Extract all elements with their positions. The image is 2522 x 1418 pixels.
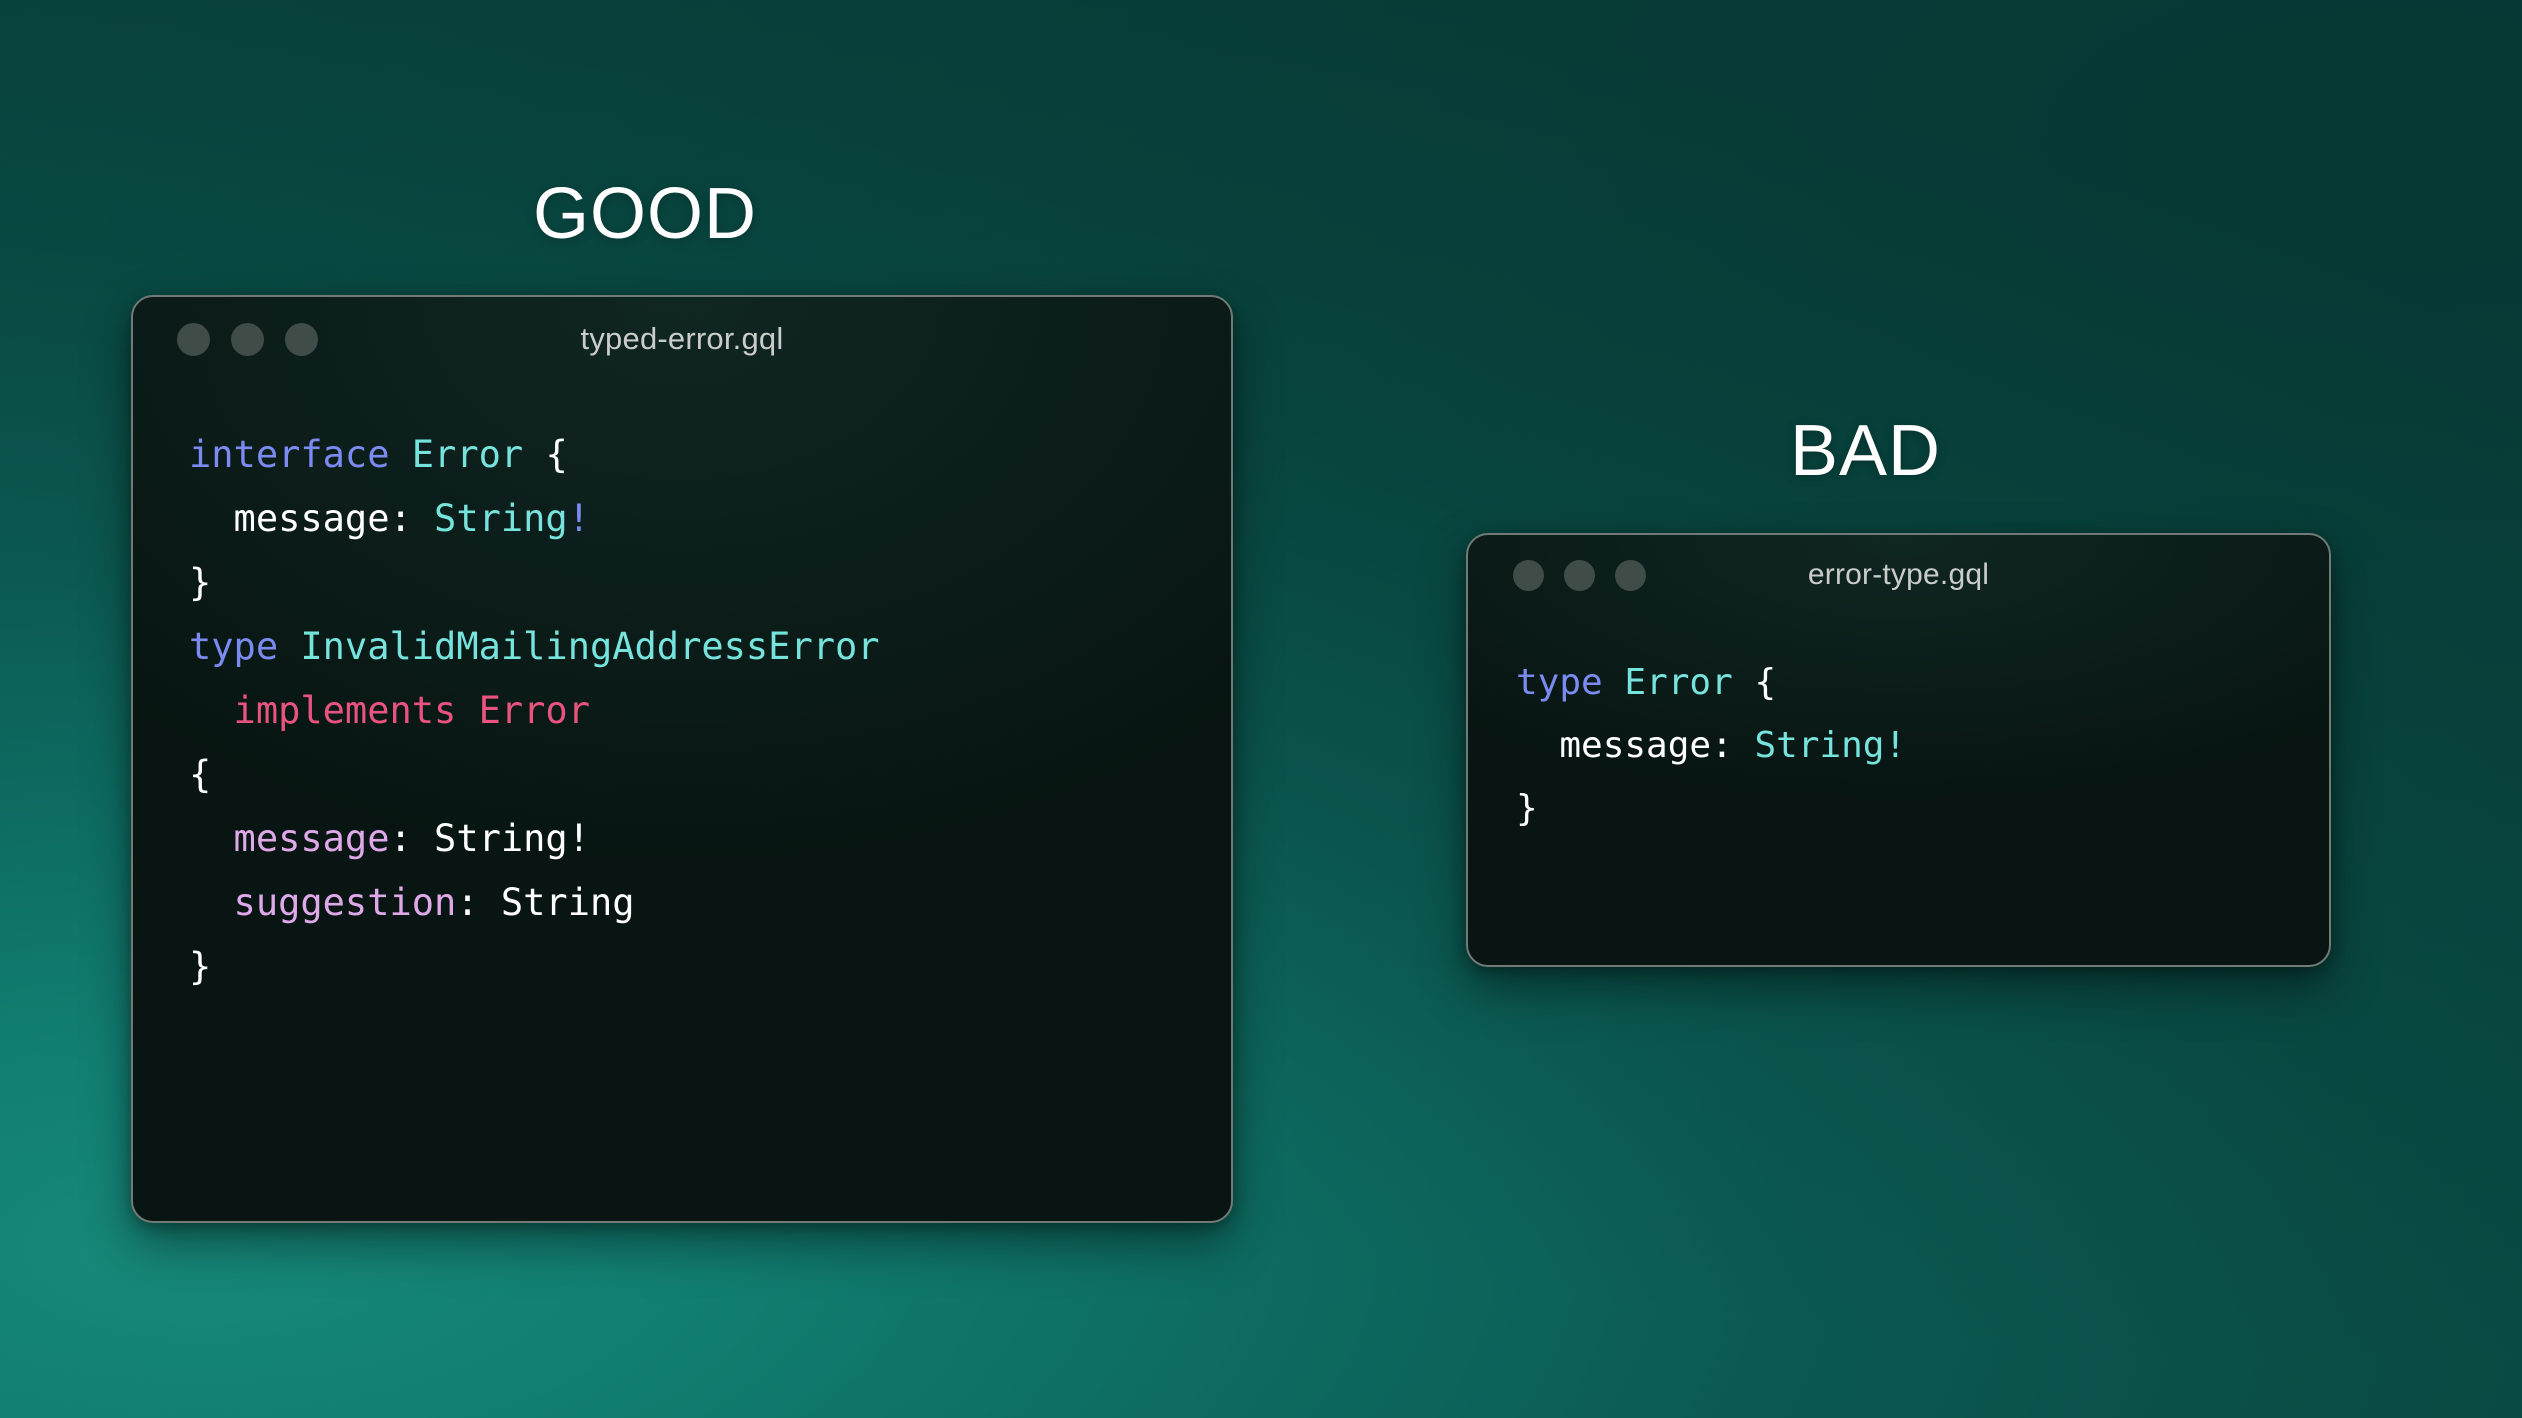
good-code-window: typed-error.gql interface Error { messag… [131, 295, 1233, 1223]
code-token: String [1754, 725, 1884, 766]
code-token: String! [434, 817, 590, 860]
code-line: message: String! [189, 807, 1231, 871]
code-token: ! [1884, 725, 1906, 766]
code-token [389, 433, 411, 476]
code-token [1603, 662, 1625, 703]
code-token: { [1754, 662, 1776, 703]
code-token: InvalidMailingAddressError [300, 625, 879, 668]
code-token: Error [412, 433, 523, 476]
code-token: String [434, 497, 568, 540]
code-line: { [189, 743, 1231, 807]
code-token: message [189, 817, 389, 860]
code-token: String [501, 881, 635, 924]
code-token: : [389, 497, 434, 540]
good-window-titlebar: typed-error.gql [133, 297, 1231, 381]
code-token: implements Error [189, 689, 590, 732]
code-token: } [189, 561, 211, 604]
code-line: implements Error [189, 679, 1231, 743]
close-dot-icon[interactable] [177, 323, 210, 356]
maximize-dot-icon[interactable] [1615, 560, 1646, 591]
bad-code-window: error-type.gql type Error { message: Str… [1466, 533, 2331, 967]
maximize-dot-icon[interactable] [285, 323, 318, 356]
good-panel-label: GOOD [533, 178, 757, 250]
code-line: type Error { [1516, 651, 2329, 714]
good-code-content: interface Error { message: String!}type … [133, 381, 1231, 999]
code-line: message: String! [189, 487, 1231, 551]
code-token: : [1711, 725, 1754, 766]
code-token [1733, 662, 1755, 703]
code-token: } [1516, 788, 1538, 829]
close-dot-icon[interactable] [1513, 560, 1544, 591]
bad-code-content: type Error { message: String!} [1468, 615, 2329, 840]
code-token: Error [1624, 662, 1732, 703]
code-token: : [389, 817, 434, 860]
code-token: message [1516, 725, 1711, 766]
code-token: type [189, 625, 278, 668]
minimize-dot-icon[interactable] [1564, 560, 1595, 591]
code-token: { [189, 753, 211, 796]
code-token: interface [189, 433, 389, 476]
code-token: type [1516, 662, 1603, 703]
code-token: } [189, 945, 211, 988]
code-line: } [189, 551, 1231, 615]
code-token [278, 625, 300, 668]
minimize-dot-icon[interactable] [231, 323, 264, 356]
code-token: message [189, 497, 389, 540]
good-traffic-lights [177, 323, 318, 356]
code-line: } [1516, 777, 2329, 840]
bad-traffic-lights [1513, 560, 1646, 591]
code-token: ! [568, 497, 590, 540]
bad-window-titlebar: error-type.gql [1468, 535, 2329, 615]
code-token [523, 433, 545, 476]
code-token: : [456, 881, 501, 924]
code-line: message: String! [1516, 714, 2329, 777]
bad-panel-label: BAD [1790, 415, 1941, 487]
code-line: type InvalidMailingAddressError [189, 615, 1231, 679]
code-line: interface Error { [189, 423, 1231, 487]
code-line: } [189, 935, 1231, 999]
code-token: suggestion [189, 881, 456, 924]
code-line: suggestion: String [189, 871, 1231, 935]
code-token: { [545, 433, 567, 476]
